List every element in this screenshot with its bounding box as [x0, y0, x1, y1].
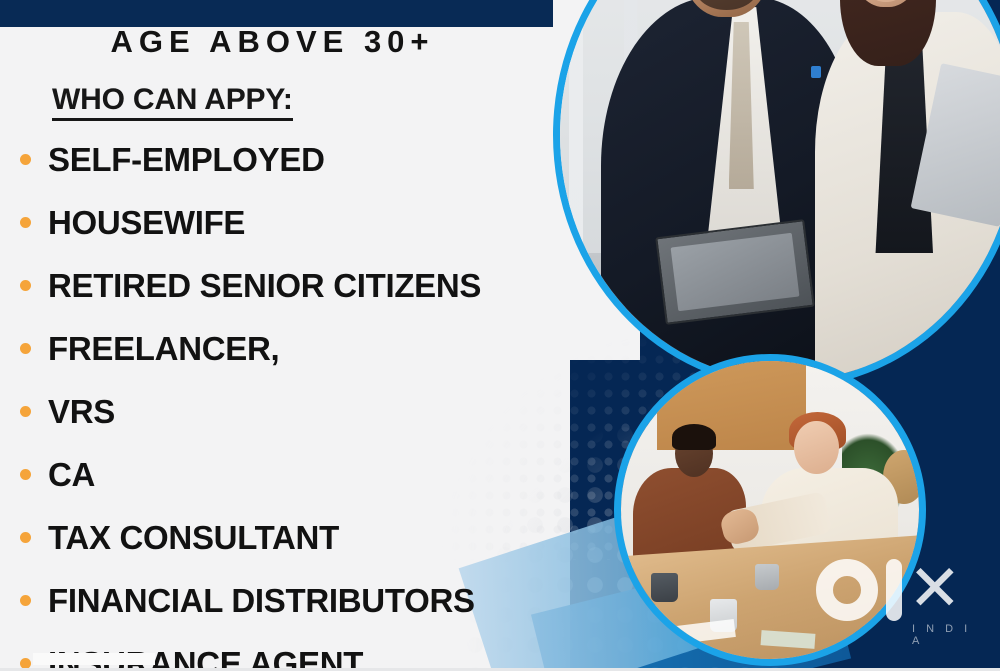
bullet-dot-icon [20, 217, 31, 228]
list-item: FREELANCER, [20, 317, 560, 380]
bullet-dot-icon [20, 469, 31, 480]
list-item-label: TAX CONSULTANT [48, 519, 339, 557]
advertisement-poster: ✕ I N D I A AGE ABOVE 30+ WHO CAN APPY: … [0, 0, 1000, 671]
bottom-light-block [33, 653, 155, 665]
tablet-screen [671, 233, 800, 311]
top-photo-circle [553, 0, 1000, 388]
person-one-hair [672, 424, 717, 451]
bullet-dot-icon [20, 532, 31, 543]
coffee-mug [651, 573, 678, 603]
list-item: VRS [20, 380, 560, 443]
bullet-dot-icon [20, 154, 31, 165]
coffee-mug [755, 564, 779, 591]
bottom-photo-circle [614, 354, 926, 666]
list-item-label: HOUSEWIFE [48, 204, 245, 242]
list-item: RETIRED SENIOR CITIZENS [20, 254, 560, 317]
list-item-label: SELF-EMPLOYED [48, 141, 325, 179]
list-item-label: RETIRED SENIOR CITIZENS [48, 267, 481, 305]
text-content-column: AGE ABOVE 30+ WHO CAN APPY: SELF-EMPLOYE… [0, 0, 560, 671]
eligibility-heading: WHO CAN APPY: [52, 83, 293, 121]
lapel-pin-icon [811, 66, 821, 78]
person-two-head [794, 421, 839, 475]
list-item: HOUSEWIFE [20, 191, 560, 254]
list-item: FINANCIAL DISTRIBUTORS [20, 569, 560, 632]
list-item: TAX CONSULTANT [20, 506, 560, 569]
business-professionals-photo [560, 0, 1000, 381]
bullet-dot-icon [20, 595, 31, 606]
list-item-label: FREELANCER, [48, 330, 279, 368]
list-item-label: FINANCIAL DISTRIBUTORS [48, 582, 475, 620]
eligibility-list: SELF-EMPLOYED HOUSEWIFE RETIRED SENIOR C… [20, 128, 560, 671]
bullet-dot-icon [20, 280, 31, 291]
list-item-label: VRS [48, 393, 115, 431]
list-item: CA [20, 443, 560, 506]
list-item-label: CA [48, 456, 95, 494]
list-item: SELF-EMPLOYED [20, 128, 560, 191]
bullet-dot-icon [20, 406, 31, 417]
page-title: AGE ABOVE 30+ [0, 24, 545, 60]
list-item: INSURANCE AGENT [20, 632, 560, 671]
bullet-dot-icon [20, 343, 31, 354]
team-handshake-meeting-photo [621, 361, 919, 659]
